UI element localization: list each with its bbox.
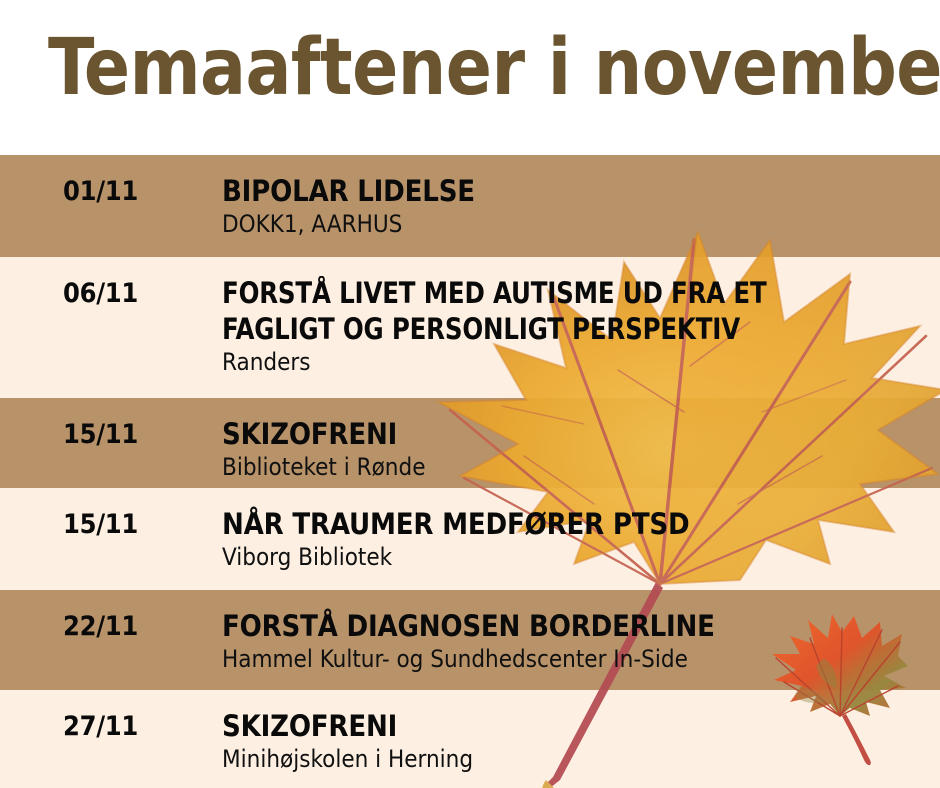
poster-canvas: Temaaftener i november 01/11BIPOLAR LIDE… bbox=[0, 0, 940, 788]
event-date: 15/11 bbox=[63, 510, 138, 540]
event-date: 22/11 bbox=[63, 612, 138, 642]
event-row[interactable]: 15/11SKIZOFRENIBiblioteket i Rønde bbox=[0, 398, 940, 488]
event-info: SKIZOFRENIMinihøjskolen i Herning bbox=[222, 708, 930, 775]
event-date: 15/11 bbox=[63, 420, 138, 450]
event-venue: Hammel Kultur- og Sundhedscenter In-Side bbox=[222, 644, 930, 675]
event-row[interactable]: 06/11FORSTÅ LIVET MED AUTISME UD FRA ETF… bbox=[0, 257, 940, 398]
event-date: 01/11 bbox=[63, 177, 138, 207]
event-info: FORSTÅ DIAGNOSEN BORDERLINEHammel Kultur… bbox=[222, 608, 930, 675]
event-title: FAGLIGT OG PERSONLIGT PERSPEKTIV bbox=[222, 311, 888, 347]
event-row[interactable]: 15/11NÅR TRAUMER MEDFØRER PTSDViborg Bib… bbox=[0, 488, 940, 590]
event-row[interactable]: 22/11FORSTÅ DIAGNOSEN BORDERLINEHammel K… bbox=[0, 590, 940, 690]
page-title: Temaaftener i november bbox=[48, 26, 940, 110]
event-info: BIPOLAR LIDELSEDOKK1, AARHUS bbox=[222, 173, 930, 240]
event-title: BIPOLAR LIDELSE bbox=[222, 173, 930, 209]
event-title: FORSTÅ LIVET MED AUTISME UD FRA ET bbox=[222, 275, 888, 311]
event-info: FORSTÅ LIVET MED AUTISME UD FRA ETFAGLIG… bbox=[222, 275, 930, 378]
header-bar: Temaaftener i november bbox=[0, 0, 940, 155]
event-info: NÅR TRAUMER MEDFØRER PTSDViborg Bibliote… bbox=[222, 506, 930, 573]
event-venue: Biblioteket i Rønde bbox=[222, 452, 930, 483]
event-row[interactable]: 01/11BIPOLAR LIDELSEDOKK1, AARHUS bbox=[0, 155, 940, 257]
event-venue: Viborg Bibliotek bbox=[222, 542, 930, 573]
event-info: SKIZOFRENIBiblioteket i Rønde bbox=[222, 416, 930, 483]
event-row[interactable]: 27/11SKIZOFRENIMinihøjskolen i Herning bbox=[0, 690, 940, 788]
event-title: FORSTÅ DIAGNOSEN BORDERLINE bbox=[222, 608, 930, 644]
event-date: 27/11 bbox=[63, 712, 138, 742]
event-title: NÅR TRAUMER MEDFØRER PTSD bbox=[222, 506, 930, 542]
event-title: SKIZOFRENI bbox=[222, 708, 930, 744]
event-venue: Minihøjskolen i Herning bbox=[222, 744, 930, 775]
event-venue: Randers bbox=[222, 347, 930, 378]
event-date: 06/11 bbox=[63, 279, 138, 309]
event-venue: DOKK1, AARHUS bbox=[222, 209, 930, 240]
event-title: SKIZOFRENI bbox=[222, 416, 930, 452]
